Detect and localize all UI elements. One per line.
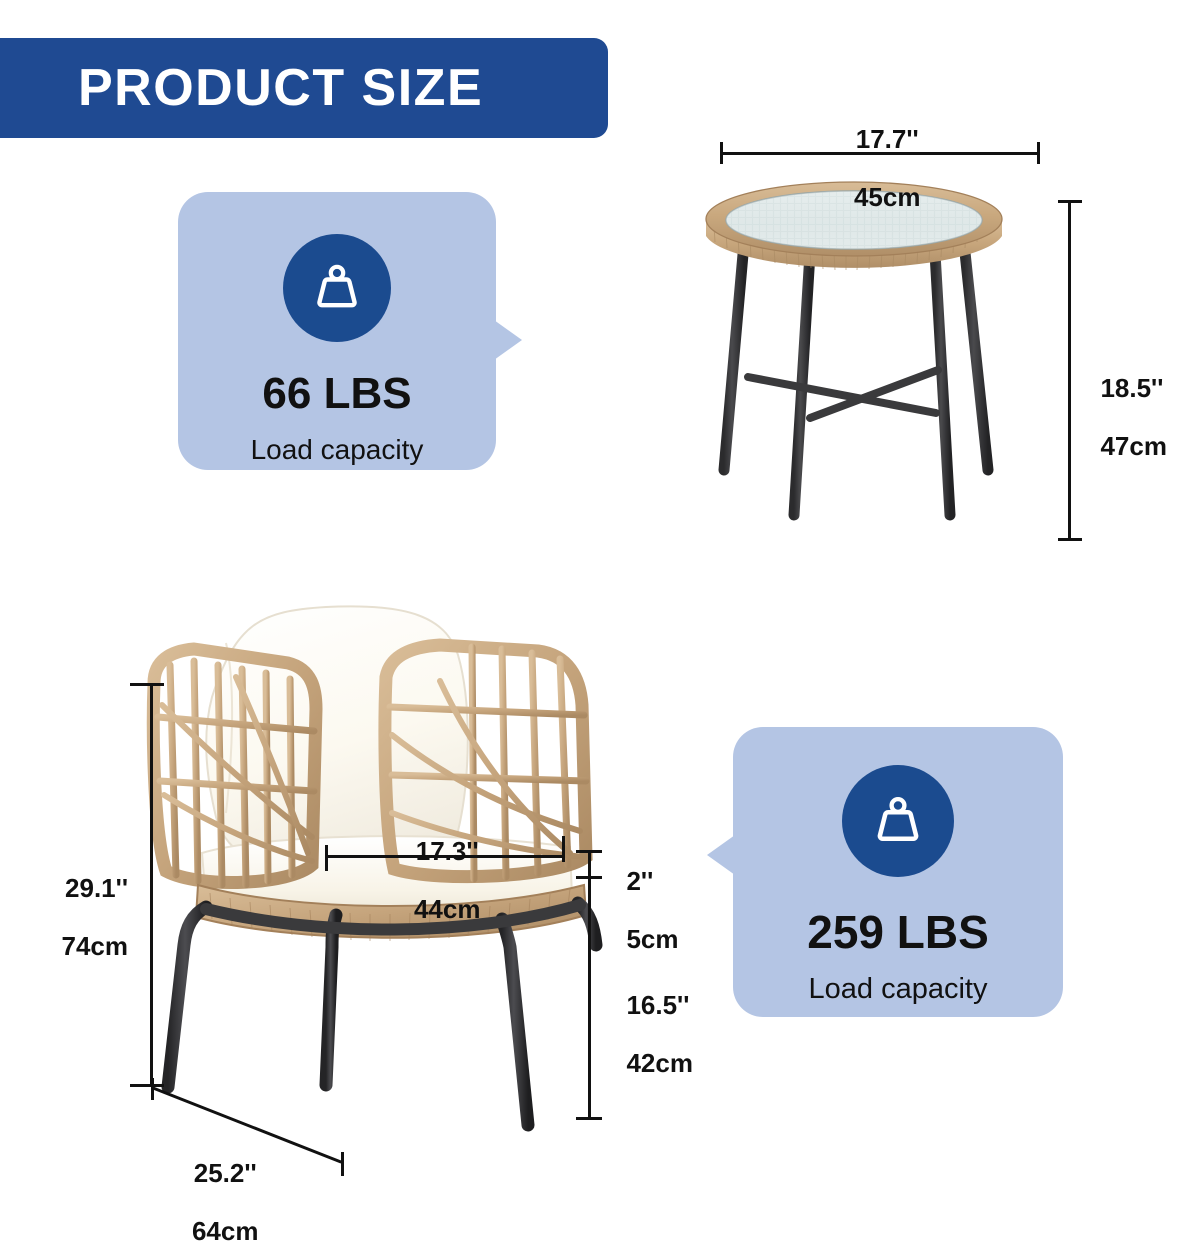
cushion-thickness-label: 2'' 5cm — [612, 838, 722, 954]
load-capacity-badge-table: 66 LBS Load capacity — [178, 192, 496, 470]
chair-height-dimension-line — [150, 683, 153, 1087]
seat-width-metric: 44cm — [414, 894, 481, 924]
badge-tail-right — [494, 320, 522, 360]
table-width-tick-left — [720, 142, 723, 164]
chair-height-tick-top — [130, 683, 164, 686]
badge-caption: Load capacity — [809, 975, 988, 1004]
table-height-inch: 18.5'' — [1100, 373, 1163, 403]
table-height-dimension-line — [1068, 200, 1071, 540]
chair-height-metric: 74cm — [62, 931, 129, 961]
chair-right-dimension-line — [588, 850, 591, 1120]
table-width-tick-right — [1037, 142, 1040, 164]
cushion-metric: 5cm — [626, 924, 678, 954]
table-height-tick-top — [1058, 200, 1082, 203]
weight-icon-circle — [842, 765, 954, 877]
seat-width-label: 17.3'' 44cm — [365, 808, 515, 924]
table-height-label: 18.5'' 47cm — [1086, 345, 1196, 461]
weight-icon — [305, 256, 369, 320]
weight-icon-circle — [283, 234, 391, 342]
weight-icon — [865, 788, 931, 854]
table-height-tick-bottom — [1058, 538, 1082, 541]
chair-height-tick-bottom — [130, 1084, 164, 1087]
product-size-banner: PRODUCT SIZE — [0, 38, 608, 138]
table-brace — [748, 370, 938, 418]
seat-width-tick-right — [562, 836, 565, 862]
seat-width-inch: 17.3'' — [416, 836, 479, 866]
badge-caption: Load capacity — [251, 436, 424, 464]
seat-height-inch: 16.5'' — [626, 990, 689, 1020]
chair-depth-tick-left — [151, 1078, 154, 1100]
page-title: PRODUCT SIZE — [0, 62, 483, 114]
badge-value: 259 LBS — [807, 909, 989, 955]
chair-depth-inch: 25.2'' — [194, 1158, 257, 1188]
cushion-tick-top — [576, 850, 602, 853]
table-height-metric: 47cm — [1100, 431, 1167, 461]
seat-height-label: 16.5'' 42cm — [612, 962, 742, 1078]
cushion-inch: 2'' — [626, 866, 653, 896]
side-table-illustration — [700, 165, 1070, 560]
table-width-inch: 17.7'' — [856, 124, 919, 154]
cushion-tick-bottom — [576, 876, 602, 879]
seat-height-metric: 42cm — [626, 1048, 693, 1078]
chair-height-inch: 29.1'' — [65, 873, 128, 903]
seat-height-tick-bottom — [576, 1117, 602, 1120]
seat-width-tick-left — [325, 845, 328, 871]
chair-depth-label: 25.2'' 64cm — [148, 1130, 288, 1246]
table-width-label: 17.7'' 45cm — [790, 96, 970, 212]
table-width-metric: 45cm — [854, 182, 921, 212]
chair-depth-tick-right — [341, 1152, 344, 1176]
chair-height-label: 29.1'' 74cm — [14, 845, 128, 961]
chair-depth-metric: 64cm — [192, 1216, 259, 1246]
badge-tail-left — [707, 835, 735, 875]
load-capacity-badge-chair: 259 LBS Load capacity — [733, 727, 1063, 1017]
badge-value: 66 LBS — [262, 372, 411, 416]
